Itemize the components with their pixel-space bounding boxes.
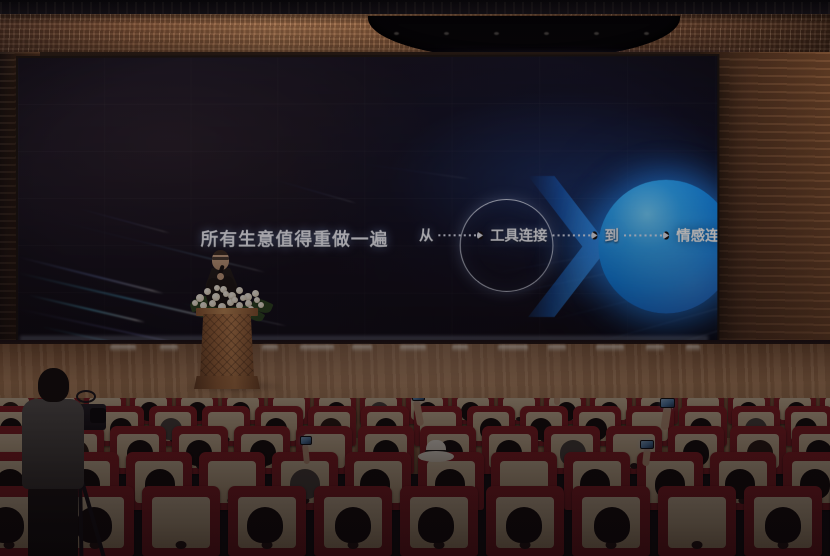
audience-member-head <box>335 507 371 543</box>
footlight-reflection <box>498 345 528 352</box>
flower-blossom <box>236 287 243 294</box>
flow-to-label: 到 <box>605 225 619 245</box>
ceiling-lamp-icon <box>544 32 549 35</box>
footlight-reflection <box>352 345 372 352</box>
flower-blossom <box>214 285 220 291</box>
footlight-reflection <box>596 345 624 352</box>
outlined-circle <box>460 199 554 292</box>
audience-member-head <box>247 507 283 543</box>
ceiling-lamp-icon <box>644 32 649 35</box>
dotted-arrow-icon-2 <box>552 230 599 240</box>
flower-blossom <box>258 302 264 308</box>
smartphone-held-up <box>412 398 425 401</box>
camera-lens-icon <box>90 408 106 423</box>
audience-member-head <box>506 507 542 543</box>
wall-panel-right <box>700 52 830 352</box>
raised-arm <box>554 398 560 405</box>
smartphone-held-up <box>640 440 654 449</box>
led-video-wall: 所有生意值得重做一遍 从 工具连接 到 情感连接 <box>18 56 717 342</box>
panama-hat <box>418 440 454 462</box>
camera-hood-icon <box>76 390 96 403</box>
flower-blossom <box>223 291 229 297</box>
footlight-reflection <box>646 345 664 352</box>
audience-seat <box>142 486 220 556</box>
audience-member-head <box>418 507 454 543</box>
camera-operator <box>10 368 100 556</box>
flower-blossom <box>209 300 216 307</box>
audience-member-head <box>765 507 801 543</box>
podium-group <box>186 248 278 393</box>
flow-stage-one-label: 工具连接 <box>490 225 547 245</box>
flow-from-label: 从 <box>419 225 433 245</box>
ceiling-lamp-icon <box>394 32 399 35</box>
footlight-reflection <box>548 345 566 352</box>
footlight-reflection <box>110 345 136 352</box>
smartphone-held-up <box>300 436 312 445</box>
smartphone-held-up <box>660 398 675 408</box>
auditorium-scene: 所有生意值得重做一遍 从 工具连接 到 情感连接 <box>0 0 830 556</box>
audience-member-head <box>594 507 630 543</box>
operator-legs <box>28 486 78 556</box>
flower-blossom <box>232 297 238 303</box>
flower-blossom <box>240 295 246 301</box>
footlight-reflection <box>452 345 468 352</box>
audience-seating <box>0 398 830 556</box>
flower-blossom <box>252 290 259 297</box>
flower-blossom <box>192 300 198 306</box>
dotted-arrow-icon-1 <box>438 230 485 240</box>
footlight-reflection <box>160 345 178 352</box>
ceiling-lamp-icon <box>594 32 599 35</box>
flow-stage-two-label: 情感连接 <box>676 225 717 245</box>
dotted-arrow-icon-3 <box>624 230 671 240</box>
flower-blossom <box>204 288 211 295</box>
podium-body <box>200 314 254 378</box>
audience-seat <box>658 486 736 556</box>
speaker-hand <box>217 273 224 280</box>
podium-base <box>194 376 260 389</box>
ceiling-lamp-icon <box>494 32 499 35</box>
footlight-reflection <box>686 345 700 352</box>
glasses-icon <box>212 257 229 260</box>
ceiling-lamp-icon <box>444 32 449 35</box>
footlight-reflection <box>400 345 426 352</box>
operator-head <box>38 368 69 402</box>
operator-torso <box>22 399 84 489</box>
footlight-reflection <box>300 345 334 352</box>
